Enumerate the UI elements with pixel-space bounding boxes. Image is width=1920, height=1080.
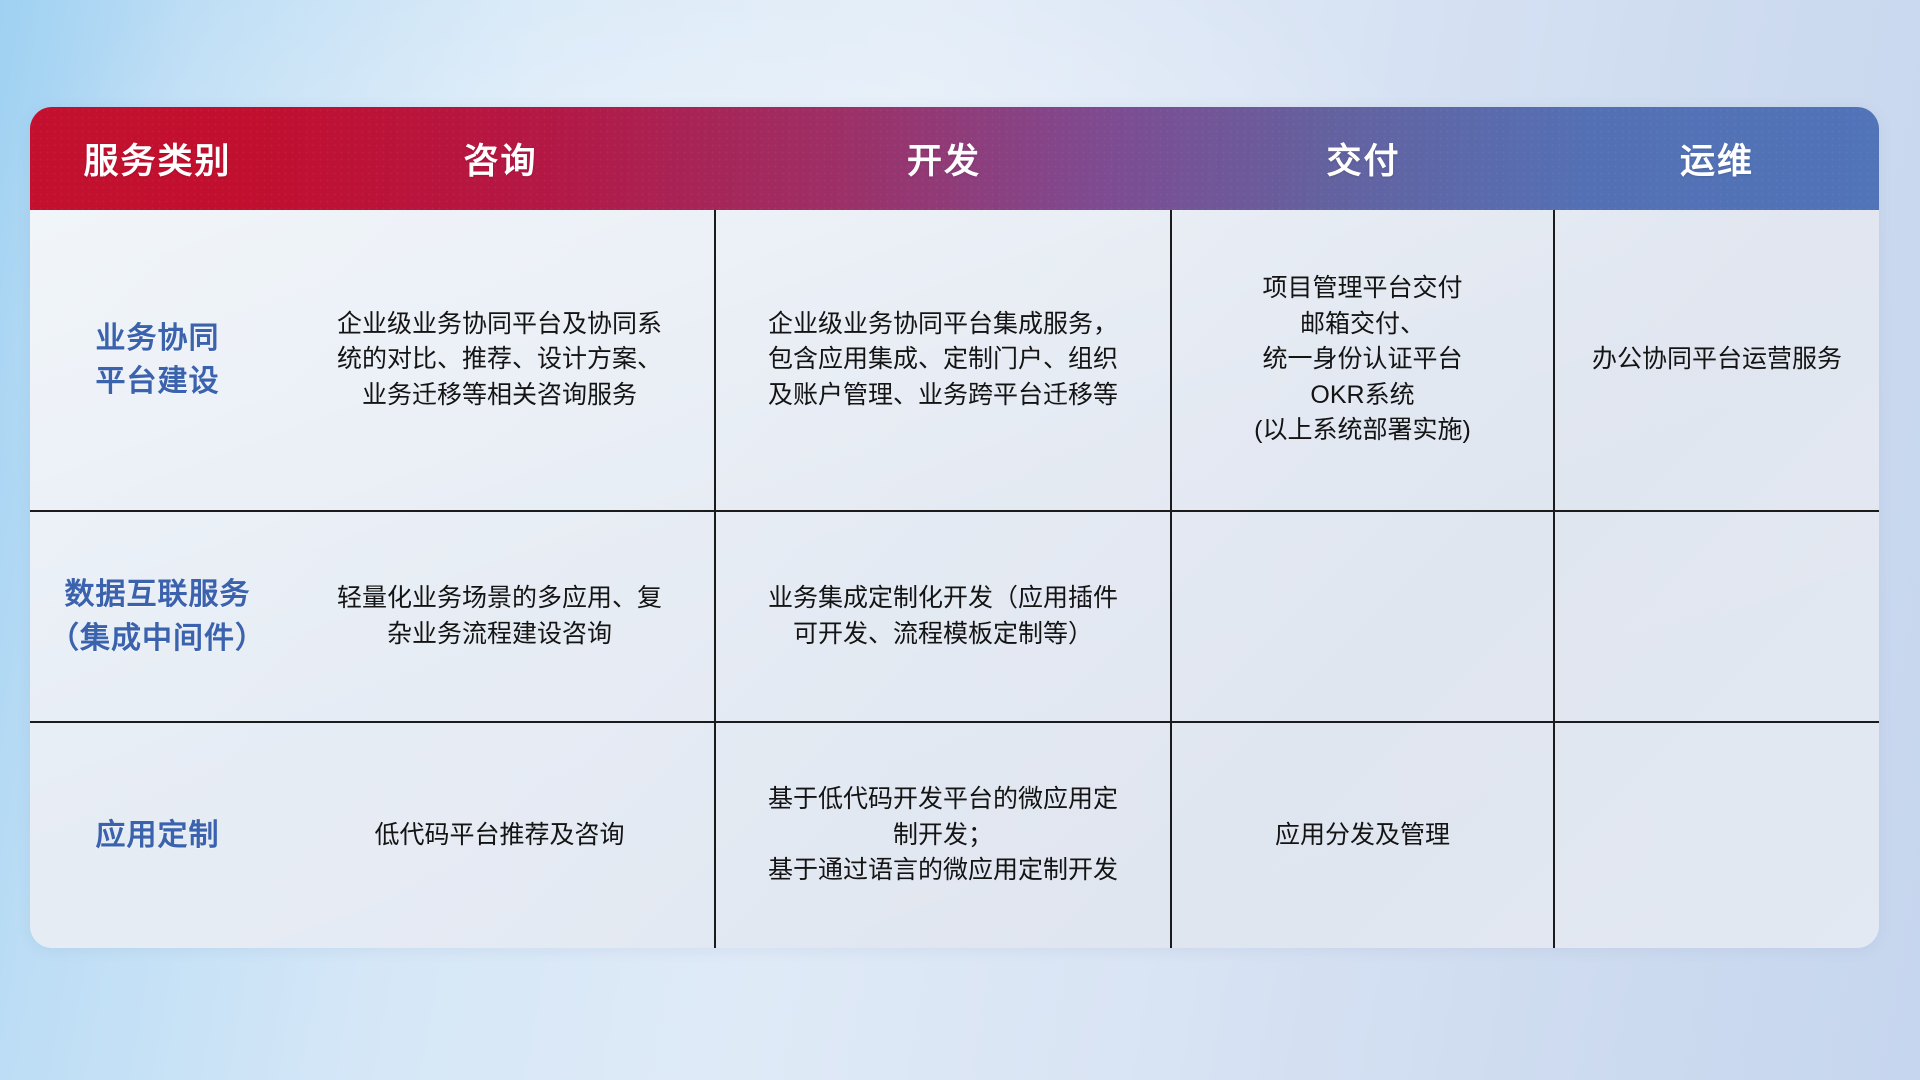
table-header-row: 服务类别 咨询 开发 交付 运维 [30, 107, 1879, 210]
cell-operations-row2 [1555, 512, 1879, 721]
header-label-consulting: 咨询 [463, 133, 537, 184]
cell-operations-row1: 办公协同平台运营服务 [1555, 210, 1879, 510]
cell-consulting-row2: 轻量化业务场景的多应用、复 杂业务流程建设咨询 [285, 512, 716, 721]
header-label-development: 开发 [907, 133, 981, 184]
header-cell-development: 开发 [716, 107, 1172, 210]
table-body: 业务协同 平台建设 企业级业务协同平台及协同系 统的对比、推荐、设计方案、 业务… [30, 210, 1879, 948]
slide-canvas: 服务类别 咨询 开发 交付 运维 业务协同 平台建设 企业级业务协同平台及协同系… [0, 0, 1920, 1080]
cell-development-row3: 基于低代码开发平台的微应用定 制开发； 基于通过语言的微应用定制开发 [716, 723, 1172, 948]
header-label-service-category: 服务类别 [83, 133, 231, 184]
cell-delivery-row3: 应用分发及管理 [1172, 723, 1555, 948]
service-matrix-table: 服务类别 咨询 开发 交付 运维 业务协同 平台建设 企业级业务协同平台及协同系… [30, 107, 1879, 948]
header-cell-service-category: 服务类别 [30, 107, 285, 210]
cell-development-row1: 企业级业务协同平台集成服务， 包含应用集成、定制门户、组织 及账户管理、业务跨平… [716, 210, 1172, 510]
cell-delivery-row2 [1172, 512, 1555, 721]
table-row: 数据互联服务 （集成中间件） 轻量化业务场景的多应用、复 杂业务流程建设咨询 业… [30, 512, 1879, 723]
cell-operations-row3 [1555, 723, 1879, 948]
header-cell-operations: 运维 [1555, 107, 1879, 210]
header-cell-delivery: 交付 [1172, 107, 1555, 210]
header-label-operations: 运维 [1680, 133, 1754, 184]
cell-consulting-row3: 低代码平台推荐及咨询 [285, 723, 716, 948]
row-label-app-customization: 应用定制 [30, 723, 285, 948]
cell-consulting-row1: 企业级业务协同平台及协同系 统的对比、推荐、设计方案、 业务迁移等相关咨询服务 [285, 210, 716, 510]
header-cell-consulting: 咨询 [285, 107, 716, 210]
row-label-business-collaboration: 业务协同 平台建设 [30, 210, 285, 510]
cell-development-row2: 业务集成定制化开发（应用插件 可开发、流程模板定制等） [716, 512, 1172, 721]
table-row: 应用定制 低代码平台推荐及咨询 基于低代码开发平台的微应用定 制开发； 基于通过… [30, 723, 1879, 948]
header-label-delivery: 交付 [1326, 133, 1400, 184]
row-label-data-interconnect: 数据互联服务 （集成中间件） [30, 512, 285, 721]
cell-delivery-row1: 项目管理平台交付 邮箱交付、 统一身份认证平台 OKR系统 (以上系统部署实施) [1172, 210, 1555, 510]
table-row: 业务协同 平台建设 企业级业务协同平台及协同系 统的对比、推荐、设计方案、 业务… [30, 210, 1879, 512]
